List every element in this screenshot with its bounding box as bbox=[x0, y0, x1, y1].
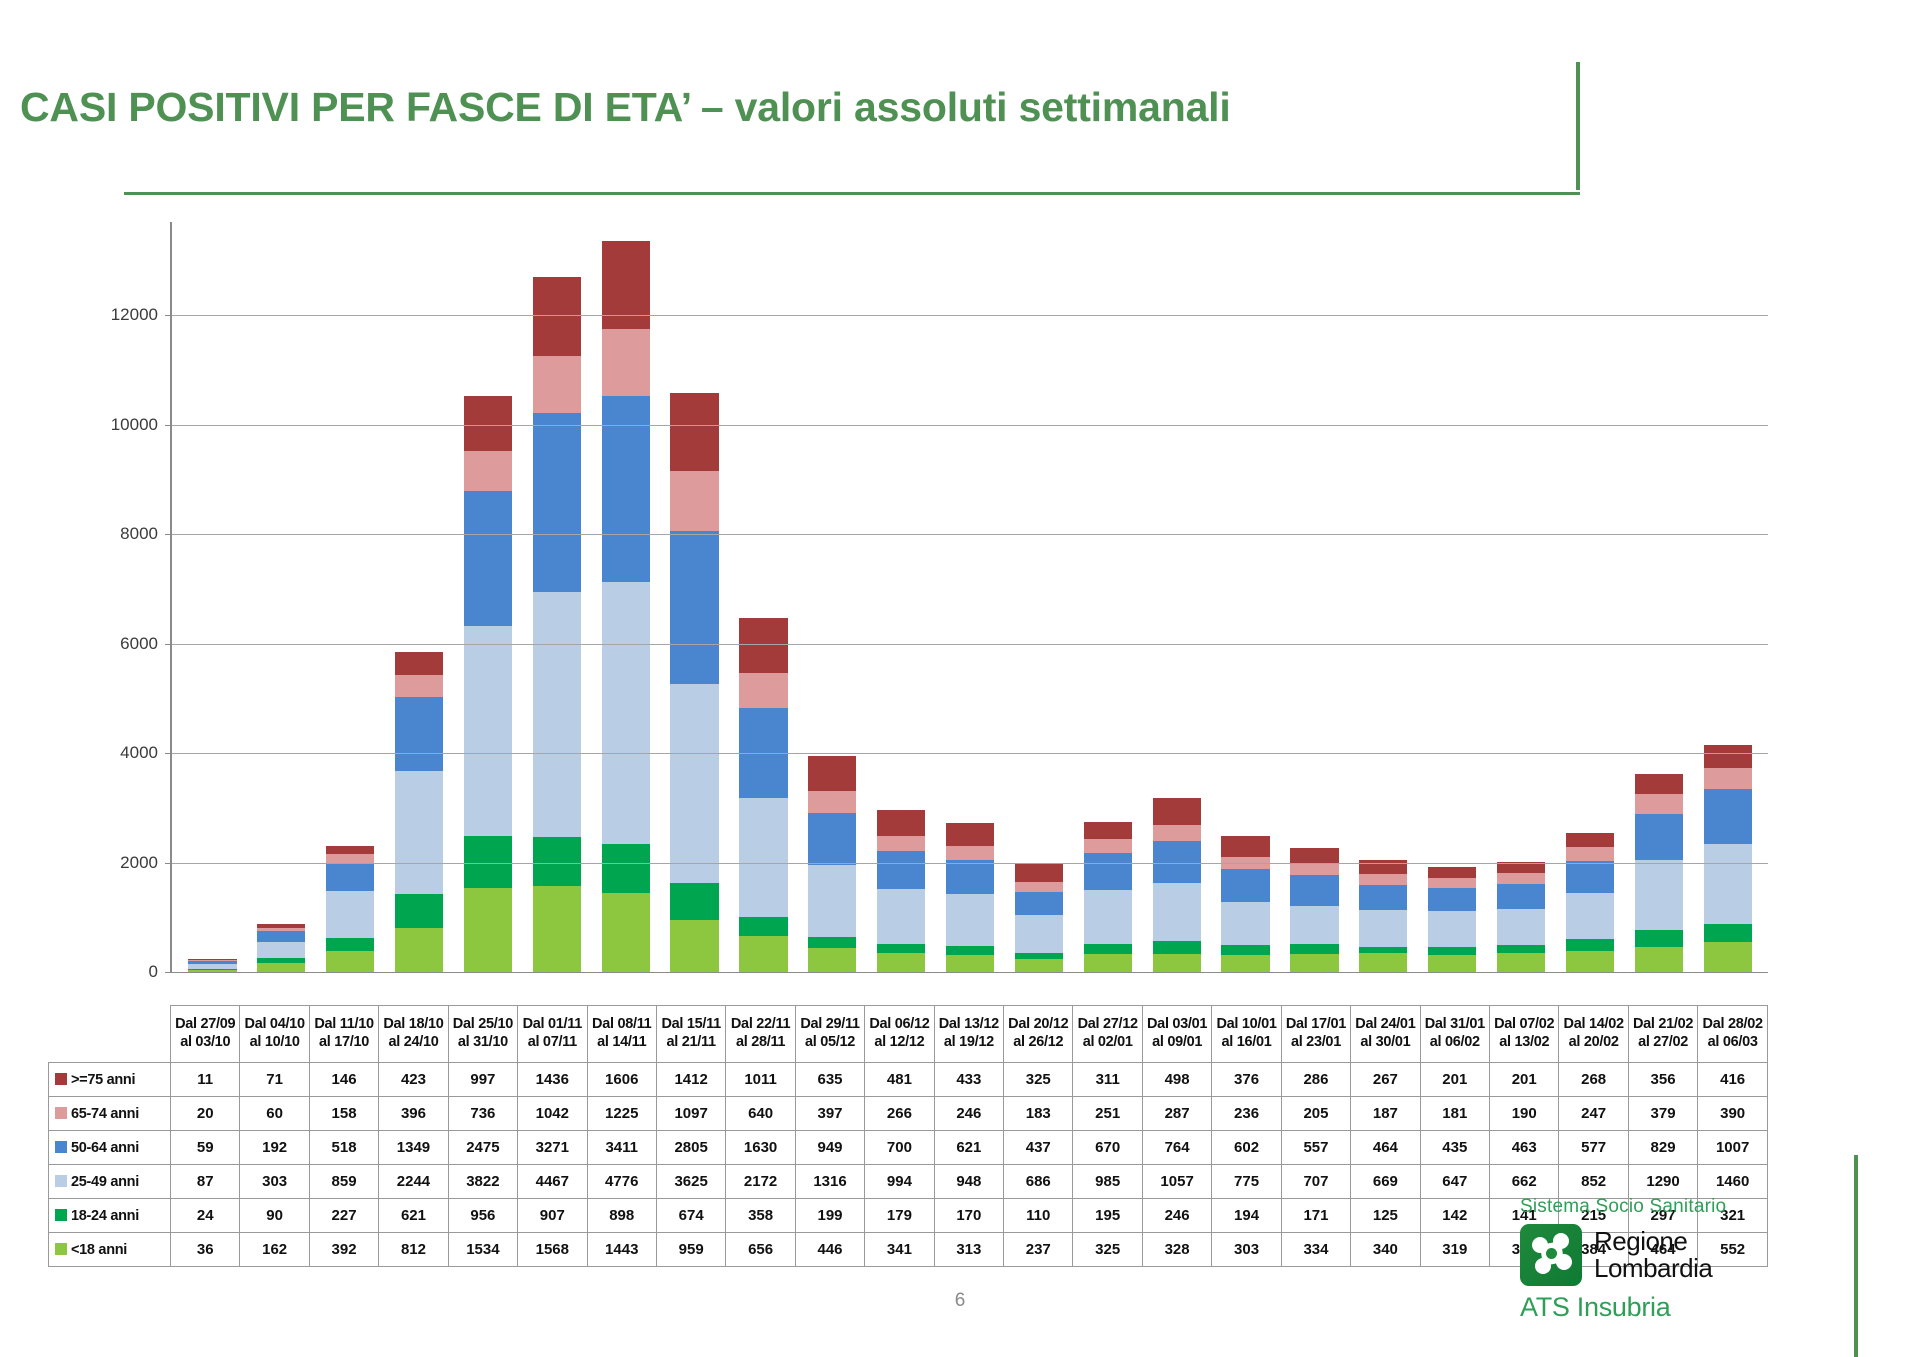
bar-segment bbox=[946, 846, 994, 859]
bar-segment bbox=[257, 963, 305, 972]
table-cell: 396 bbox=[379, 1097, 448, 1131]
table-column-header: Dal 11/10al 17/10 bbox=[309, 1006, 378, 1063]
table-column-header: Dal 15/11al 21/11 bbox=[656, 1006, 725, 1063]
bar-segment bbox=[946, 955, 994, 972]
table-cell: 146 bbox=[309, 1063, 378, 1097]
bar-segment bbox=[946, 946, 994, 955]
column-header-line1: Dal 22/11 bbox=[726, 1016, 794, 1034]
bar-column bbox=[1211, 222, 1280, 972]
bar-segment bbox=[946, 823, 994, 847]
bar-column bbox=[660, 222, 729, 972]
table-column-header: Dal 17/01al 23/01 bbox=[1281, 1006, 1350, 1063]
stacked-bar bbox=[1704, 745, 1752, 972]
bar-segment bbox=[395, 675, 443, 697]
table-cell: 325 bbox=[1073, 1233, 1142, 1267]
gridline bbox=[172, 534, 1768, 535]
logo-word-regione: Regione bbox=[1594, 1228, 1712, 1255]
bar-segment bbox=[1704, 924, 1752, 942]
title-underline bbox=[124, 192, 1580, 195]
bar-segment bbox=[877, 810, 925, 836]
chart: 020004000600080001000012000 bbox=[48, 210, 1768, 1010]
table-column-header: Dal 13/12al 19/12 bbox=[934, 1006, 1003, 1063]
stacked-bar bbox=[1015, 864, 1063, 972]
stacked-bar bbox=[1221, 836, 1269, 972]
table-cell: 518 bbox=[309, 1131, 378, 1165]
bar-segment bbox=[464, 626, 512, 835]
stacked-bar bbox=[464, 396, 512, 972]
table-column-header: Dal 06/12al 12/12 bbox=[865, 1006, 934, 1063]
bar-column bbox=[867, 222, 936, 972]
table-cell: 4776 bbox=[587, 1165, 656, 1199]
bar-segment bbox=[1635, 860, 1683, 931]
bar-segment bbox=[1359, 910, 1407, 947]
gridline bbox=[172, 425, 1768, 426]
gridline bbox=[172, 753, 1768, 754]
stacked-bar bbox=[326, 846, 374, 972]
bar-segment bbox=[877, 889, 925, 943]
bar-segment bbox=[602, 893, 650, 972]
table-cell: 1349 bbox=[379, 1131, 448, 1165]
bar-segment bbox=[1015, 892, 1063, 916]
bar-column bbox=[1418, 222, 1487, 972]
bar-segment bbox=[533, 356, 581, 413]
bar-segment bbox=[1221, 945, 1269, 956]
table-cell: 201 bbox=[1490, 1063, 1559, 1097]
bar-segment bbox=[1704, 768, 1752, 789]
stacked-bar bbox=[1290, 848, 1338, 972]
bar-segment bbox=[1290, 944, 1338, 953]
table-cell: 179 bbox=[865, 1199, 934, 1233]
table-cell: 340 bbox=[1351, 1233, 1420, 1267]
table-cell: 2805 bbox=[656, 1131, 725, 1165]
bar-segment bbox=[1359, 874, 1407, 884]
bar-column bbox=[178, 222, 247, 972]
table-cell: 311 bbox=[1073, 1063, 1142, 1097]
bar-segment bbox=[326, 846, 374, 854]
table-column-header: Dal 21/02al 27/02 bbox=[1628, 1006, 1697, 1063]
bar-segment bbox=[1153, 798, 1201, 825]
bar-segment bbox=[1359, 953, 1407, 972]
bar-column bbox=[522, 222, 591, 972]
data-table-wrapper: Dal 27/09al 03/10Dal 04/10al 10/10Dal 11… bbox=[48, 1005, 1768, 1267]
bar-segment bbox=[1290, 864, 1338, 875]
bar-segment bbox=[1153, 954, 1201, 972]
y-axis-tick-label: 4000 bbox=[120, 743, 158, 763]
legend-row-header: >=75 anni bbox=[49, 1063, 171, 1097]
table-cell: 328 bbox=[1142, 1233, 1211, 1267]
table-body: >=75 anni1171146423997143616061412101163… bbox=[49, 1063, 1768, 1267]
table-column-header: Dal 31/01al 06/02 bbox=[1420, 1006, 1489, 1063]
column-header-line1: Dal 04/10 bbox=[240, 1016, 308, 1034]
table-corner-cell bbox=[49, 1006, 171, 1063]
table-row: <18 anni36162392812153415681443959656446… bbox=[49, 1233, 1768, 1267]
bar-segment bbox=[808, 756, 856, 791]
bar-segment bbox=[1704, 789, 1752, 844]
column-header-line2: al 09/01 bbox=[1143, 1034, 1211, 1052]
bar-segment bbox=[1153, 883, 1201, 941]
column-header-line1: Dal 01/11 bbox=[518, 1016, 586, 1034]
bar-segment bbox=[602, 329, 650, 396]
bar-segment bbox=[1290, 875, 1338, 905]
bar-segment bbox=[395, 697, 443, 771]
bar-segment bbox=[1084, 839, 1132, 853]
table-column-header: Dal 04/10al 10/10 bbox=[240, 1006, 309, 1063]
bar-segment bbox=[1635, 930, 1683, 946]
table-cell: 246 bbox=[1142, 1199, 1211, 1233]
bar-segment bbox=[326, 951, 374, 972]
table-cell: 985 bbox=[1073, 1165, 1142, 1199]
column-header-line2: al 03/10 bbox=[171, 1034, 239, 1052]
table-cell: 170 bbox=[934, 1199, 1003, 1233]
column-header-line1: Dal 27/12 bbox=[1073, 1016, 1141, 1034]
right-accent-rail bbox=[1854, 1155, 1858, 1357]
bar-segment bbox=[1084, 890, 1132, 944]
bar-column bbox=[385, 222, 454, 972]
legend-row-header: 50-64 anni bbox=[49, 1131, 171, 1165]
gridline bbox=[172, 315, 1768, 316]
bar-segment bbox=[670, 920, 718, 973]
column-header-line1: Dal 08/11 bbox=[588, 1016, 656, 1034]
table-cell: 764 bbox=[1142, 1131, 1211, 1165]
bar-segment bbox=[670, 393, 718, 470]
column-header-line2: al 06/03 bbox=[1698, 1034, 1767, 1052]
column-header-line1: Dal 10/01 bbox=[1212, 1016, 1280, 1034]
bar-segment bbox=[670, 531, 718, 685]
table-cell: 1316 bbox=[795, 1165, 864, 1199]
bar-segment bbox=[1566, 833, 1614, 848]
table-column-header: Dal 01/11al 07/11 bbox=[518, 1006, 587, 1063]
table-cell: 227 bbox=[309, 1199, 378, 1233]
table-cell: 907 bbox=[518, 1199, 587, 1233]
column-header-line1: Dal 07/02 bbox=[1490, 1016, 1558, 1034]
column-header-line1: Dal 13/12 bbox=[935, 1016, 1003, 1034]
table-cell: 1011 bbox=[726, 1063, 795, 1097]
column-header-line2: al 10/10 bbox=[240, 1034, 308, 1052]
table-column-header: Dal 14/02al 20/02 bbox=[1559, 1006, 1628, 1063]
logo-bottom-text: ATS Insubria bbox=[1520, 1292, 1782, 1323]
stacked-bar bbox=[670, 393, 718, 972]
plot-area bbox=[172, 222, 1768, 972]
column-header-line2: al 07/11 bbox=[518, 1034, 586, 1052]
column-header-line2: al 16/01 bbox=[1212, 1034, 1280, 1052]
column-header-line1: Dal 24/01 bbox=[1351, 1016, 1419, 1034]
y-axis-tick-label: 2000 bbox=[120, 853, 158, 873]
bar-segment bbox=[1015, 864, 1063, 882]
bar-segment bbox=[670, 883, 718, 920]
bar-segment bbox=[1566, 939, 1614, 951]
slide-canvas: CASI POSITIVI PER FASCE DI ETA’ – valori… bbox=[0, 0, 1920, 1357]
table-cell: 303 bbox=[240, 1165, 309, 1199]
bar-column bbox=[1073, 222, 1142, 972]
table-cell: 1412 bbox=[656, 1063, 725, 1097]
bar-column bbox=[1487, 222, 1556, 972]
table-cell: 268 bbox=[1559, 1063, 1628, 1097]
legend-color-swatch bbox=[55, 1073, 67, 1085]
bar-segment bbox=[326, 938, 374, 950]
table-cell: 358 bbox=[726, 1199, 795, 1233]
column-header-line2: al 05/12 bbox=[796, 1034, 864, 1052]
bar-segment bbox=[808, 948, 856, 972]
table-cell: 20 bbox=[171, 1097, 240, 1131]
table-cell: 1042 bbox=[518, 1097, 587, 1131]
table-cell: 481 bbox=[865, 1063, 934, 1097]
legend-color-swatch bbox=[55, 1141, 67, 1153]
y-axis-tick-mark bbox=[165, 863, 172, 864]
legend-row-header: 65-74 anni bbox=[49, 1097, 171, 1131]
bar-column bbox=[316, 222, 385, 972]
table-column-header: Dal 29/11al 05/12 bbox=[795, 1006, 864, 1063]
table-cell: 287 bbox=[1142, 1097, 1211, 1131]
table-column-header: Dal 20/12al 26/12 bbox=[1004, 1006, 1073, 1063]
column-header-line2: al 27/02 bbox=[1629, 1034, 1697, 1052]
table-cell: 1290 bbox=[1628, 1165, 1697, 1199]
table-cell: 602 bbox=[1212, 1131, 1281, 1165]
bar-column bbox=[454, 222, 523, 972]
bar-segment bbox=[1566, 847, 1614, 861]
column-header-line2: al 12/12 bbox=[865, 1034, 933, 1052]
table-cell: 647 bbox=[1420, 1165, 1489, 1199]
stacked-bar bbox=[1635, 774, 1683, 972]
bar-segment bbox=[739, 936, 787, 972]
bar-segment bbox=[1084, 853, 1132, 890]
bar-segment bbox=[257, 942, 305, 959]
bar-segment bbox=[257, 931, 305, 942]
legend-label: 65-74 anni bbox=[71, 1106, 139, 1122]
table-cell: 162 bbox=[240, 1233, 309, 1267]
bar-segment bbox=[1635, 814, 1683, 859]
y-axis-tick-label: 0 bbox=[149, 962, 158, 982]
column-header-line2: al 23/01 bbox=[1282, 1034, 1350, 1052]
table-cell: 464 bbox=[1351, 1131, 1420, 1165]
table-cell: 2244 bbox=[379, 1165, 448, 1199]
table-column-header: Dal 07/02al 13/02 bbox=[1490, 1006, 1559, 1063]
table-column-header: Dal 03/01al 09/01 bbox=[1142, 1006, 1211, 1063]
table-cell: 303 bbox=[1212, 1233, 1281, 1267]
table-cell: 1606 bbox=[587, 1063, 656, 1097]
column-header-line1: Dal 25/10 bbox=[449, 1016, 517, 1034]
bar-segment bbox=[464, 491, 512, 626]
bar-segment bbox=[602, 844, 650, 893]
table-cell: 1630 bbox=[726, 1131, 795, 1165]
ats-insubria-logo: Sistema Socio Sanitario Regione Lombardi… bbox=[1512, 1196, 1782, 1323]
table-cell: 3271 bbox=[518, 1131, 587, 1165]
bar-segment bbox=[1566, 951, 1614, 972]
bar-segment bbox=[1359, 947, 1407, 954]
column-header-line2: al 30/01 bbox=[1351, 1034, 1419, 1052]
bar-segment bbox=[326, 863, 374, 891]
table-cell: 956 bbox=[448, 1199, 517, 1233]
table-cell: 1568 bbox=[518, 1233, 587, 1267]
legend-row-header: <18 anni bbox=[49, 1233, 171, 1267]
table-cell: 1534 bbox=[448, 1233, 517, 1267]
table-row: 65-74 anni206015839673610421225109764039… bbox=[49, 1097, 1768, 1131]
column-header-line2: al 19/12 bbox=[935, 1034, 1003, 1052]
column-header-line2: al 06/02 bbox=[1421, 1034, 1489, 1052]
stacked-bar bbox=[946, 823, 994, 972]
column-header-line1: Dal 06/12 bbox=[865, 1016, 933, 1034]
table-cell: 3411 bbox=[587, 1131, 656, 1165]
legend-color-swatch bbox=[55, 1175, 67, 1187]
y-axis: 020004000600080001000012000 bbox=[48, 210, 170, 972]
table-column-header: Dal 27/09al 03/10 bbox=[171, 1006, 240, 1063]
table-cell: 397 bbox=[795, 1097, 864, 1131]
column-header-line2: al 14/11 bbox=[588, 1034, 656, 1052]
bar-segment bbox=[326, 891, 374, 938]
column-header-line1: Dal 28/02 bbox=[1698, 1016, 1767, 1034]
bar-column bbox=[1349, 222, 1418, 972]
bar-group bbox=[172, 222, 1768, 972]
table-cell: 341 bbox=[865, 1233, 934, 1267]
bar-column bbox=[936, 222, 1005, 972]
table-cell: 577 bbox=[1559, 1131, 1628, 1165]
bar-segment bbox=[1084, 944, 1132, 955]
column-header-line2: al 13/02 bbox=[1490, 1034, 1558, 1052]
column-header-line2: al 20/02 bbox=[1559, 1034, 1627, 1052]
bar-segment bbox=[877, 851, 925, 889]
y-axis-tick-mark bbox=[165, 315, 172, 316]
bar-segment bbox=[1497, 945, 1545, 953]
bar-segment bbox=[877, 944, 925, 954]
table-cell: 997 bbox=[448, 1063, 517, 1097]
y-axis-tick-mark bbox=[165, 972, 172, 973]
column-header-line1: Dal 29/11 bbox=[796, 1016, 864, 1034]
bar-segment bbox=[1221, 869, 1269, 902]
bar-segment bbox=[946, 894, 994, 946]
table-cell: 24 bbox=[171, 1199, 240, 1233]
column-header-line2: al 26/12 bbox=[1004, 1034, 1072, 1052]
table-cell: 498 bbox=[1142, 1063, 1211, 1097]
bar-column bbox=[1142, 222, 1211, 972]
table-cell: 187 bbox=[1351, 1097, 1420, 1131]
gridline bbox=[172, 863, 1768, 864]
table-cell: 2172 bbox=[726, 1165, 795, 1199]
table-cell: 158 bbox=[309, 1097, 378, 1131]
table-header-row: Dal 27/09al 03/10Dal 04/10al 10/10Dal 11… bbox=[49, 1006, 1768, 1063]
table-cell: 775 bbox=[1212, 1165, 1281, 1199]
bar-segment bbox=[670, 471, 718, 531]
bar-segment bbox=[877, 953, 925, 972]
table-row: 18-24 anni249022762195690789867435819917… bbox=[49, 1199, 1768, 1233]
bar-segment bbox=[1221, 902, 1269, 944]
table-cell: 11 bbox=[171, 1063, 240, 1097]
bar-segment bbox=[1428, 888, 1476, 912]
table-cell: 1007 bbox=[1698, 1131, 1768, 1165]
table-cell: 1225 bbox=[587, 1097, 656, 1131]
table-cell: 898 bbox=[587, 1199, 656, 1233]
table-cell: 859 bbox=[309, 1165, 378, 1199]
table-cell: 60 bbox=[240, 1097, 309, 1131]
table-cell: 446 bbox=[795, 1233, 864, 1267]
bar-segment bbox=[1221, 836, 1269, 857]
legend-label: <18 anni bbox=[71, 1242, 127, 1258]
table-cell: 621 bbox=[934, 1131, 1003, 1165]
table-cell: 181 bbox=[1420, 1097, 1489, 1131]
table-cell: 640 bbox=[726, 1097, 795, 1131]
table-cell: 199 bbox=[795, 1199, 864, 1233]
stacked-bar bbox=[188, 959, 236, 972]
bar-segment bbox=[533, 592, 581, 837]
table-cell: 1436 bbox=[518, 1063, 587, 1097]
table-cell: 313 bbox=[934, 1233, 1003, 1267]
table-cell: 949 bbox=[795, 1131, 864, 1165]
table-cell: 247 bbox=[1559, 1097, 1628, 1131]
table-column-header: Dal 18/10al 24/10 bbox=[379, 1006, 448, 1063]
table-cell: 392 bbox=[309, 1233, 378, 1267]
table-cell: 390 bbox=[1698, 1097, 1768, 1131]
bar-column bbox=[1624, 222, 1693, 972]
column-header-line2: al 21/11 bbox=[657, 1034, 725, 1052]
table-cell: 812 bbox=[379, 1233, 448, 1267]
bar-segment bbox=[1635, 774, 1683, 793]
bar-column bbox=[798, 222, 867, 972]
column-header-line1: Dal 14/02 bbox=[1559, 1016, 1627, 1034]
bar-segment bbox=[670, 684, 718, 882]
table-column-header: Dal 08/11al 14/11 bbox=[587, 1006, 656, 1063]
bar-segment bbox=[602, 582, 650, 843]
bar-segment bbox=[1153, 825, 1201, 841]
bar-segment bbox=[808, 813, 856, 865]
table-cell: 635 bbox=[795, 1063, 864, 1097]
bar-segment bbox=[395, 894, 443, 928]
table-cell: 959 bbox=[656, 1233, 725, 1267]
legend-label: 25-49 anni bbox=[71, 1174, 139, 1190]
table-cell: 236 bbox=[1212, 1097, 1281, 1131]
column-header-line1: Dal 11/10 bbox=[310, 1016, 378, 1034]
table-cell: 319 bbox=[1420, 1233, 1489, 1267]
y-axis-tick-label: 8000 bbox=[120, 524, 158, 544]
table-column-header: Dal 22/11al 28/11 bbox=[726, 1006, 795, 1063]
stacked-bar bbox=[395, 652, 443, 972]
table-cell: 190 bbox=[1490, 1097, 1559, 1131]
logo-wordmark: Regione Lombardia bbox=[1594, 1228, 1712, 1281]
bar-segment bbox=[1359, 885, 1407, 910]
column-header-line1: Dal 21/02 bbox=[1629, 1016, 1697, 1034]
table-cell: 3822 bbox=[448, 1165, 517, 1199]
column-header-line2: al 02/01 bbox=[1073, 1034, 1141, 1052]
table-column-header: Dal 28/02al 06/03 bbox=[1698, 1006, 1768, 1063]
stacked-bar bbox=[1084, 822, 1132, 972]
bar-segment bbox=[1428, 947, 1476, 955]
y-axis-tick-label: 6000 bbox=[120, 634, 158, 654]
bar-segment bbox=[464, 888, 512, 972]
table-cell: 1460 bbox=[1698, 1165, 1768, 1199]
bar-segment bbox=[1290, 906, 1338, 945]
table-column-header: Dal 27/12al 02/01 bbox=[1073, 1006, 1142, 1063]
column-header-line2: al 24/10 bbox=[379, 1034, 447, 1052]
table-cell: 670 bbox=[1073, 1131, 1142, 1165]
bar-segment bbox=[1428, 867, 1476, 878]
stacked-bar bbox=[1497, 862, 1545, 972]
legend-label: 18-24 anni bbox=[71, 1208, 139, 1224]
table-cell: 3625 bbox=[656, 1165, 725, 1199]
bar-segment bbox=[1497, 862, 1545, 873]
table-header: Dal 27/09al 03/10Dal 04/10al 10/10Dal 11… bbox=[49, 1006, 1768, 1063]
table-cell: 557 bbox=[1281, 1131, 1350, 1165]
bar-column bbox=[1693, 222, 1762, 972]
y-axis-tick-mark bbox=[165, 753, 172, 754]
table-cell: 707 bbox=[1281, 1165, 1350, 1199]
column-header-line2: al 17/10 bbox=[310, 1034, 378, 1052]
table-row: 25-49 anni873038592244382244674776362521… bbox=[49, 1165, 1768, 1199]
table-cell: 142 bbox=[1420, 1199, 1489, 1233]
table-cell: 994 bbox=[865, 1165, 934, 1199]
table-cell: 356 bbox=[1628, 1063, 1697, 1097]
bar-segment bbox=[1497, 884, 1545, 909]
bar-segment bbox=[1428, 911, 1476, 946]
bar-segment bbox=[1704, 745, 1752, 768]
table-cell: 325 bbox=[1004, 1063, 1073, 1097]
bar-segment bbox=[1084, 954, 1132, 972]
